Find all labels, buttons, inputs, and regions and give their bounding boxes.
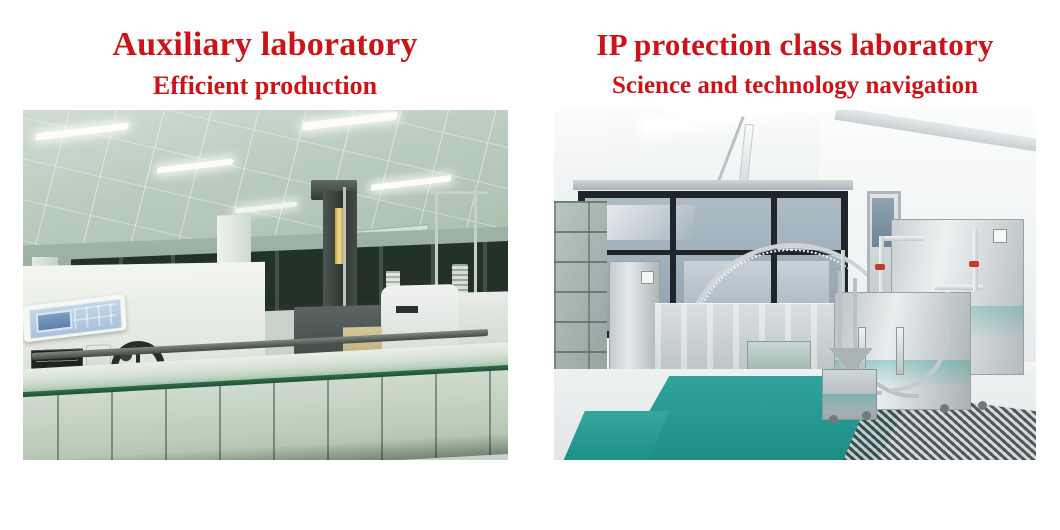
red-valve-handle-icon bbox=[875, 264, 885, 270]
column-auxiliary-laboratory: Auxiliary laboratory Efficient productio… bbox=[0, 0, 530, 530]
warning-label-icon bbox=[993, 229, 1007, 243]
castor-wheel-icon bbox=[940, 404, 949, 413]
hoist-frame-top bbox=[430, 191, 488, 194]
auxiliary-laboratory-photo bbox=[23, 110, 508, 460]
auxiliary-laboratory-subtitle: Efficient production bbox=[153, 71, 377, 101]
panel-display-screen bbox=[35, 309, 73, 333]
partition-lintel bbox=[573, 180, 853, 190]
control-panel-face bbox=[29, 298, 123, 340]
two-column-layout: Auxiliary laboratory Efficient productio… bbox=[0, 0, 1060, 530]
auxiliary-laboratory-title: Auxiliary laboratory bbox=[112, 26, 417, 64]
auxiliary-lab-scene bbox=[23, 110, 508, 460]
control-panel bbox=[23, 294, 127, 343]
column-ip-protection-class-laboratory: IP protection class laboratory Science a… bbox=[530, 0, 1060, 530]
ip-protection-subtitle: Science and technology navigation bbox=[612, 71, 978, 101]
ip-protection-title: IP protection class laboratory bbox=[596, 26, 993, 64]
castor-wheel-icon bbox=[829, 415, 838, 424]
warning-label-icon bbox=[641, 271, 654, 284]
ip-protection-class-laboratory-photo bbox=[554, 110, 1036, 460]
ip-protection-heading: IP protection class laboratory Science a… bbox=[530, 0, 1060, 101]
castor-wheel-icon bbox=[978, 401, 987, 410]
red-valve-handle-icon bbox=[969, 261, 979, 267]
laboratory-showcase-page: Auxiliary laboratory Efficient productio… bbox=[0, 0, 1060, 530]
panel-keypad bbox=[73, 303, 116, 329]
water-pipe bbox=[879, 236, 922, 241]
glass-reflection bbox=[597, 205, 693, 240]
auxiliary-laboratory-heading: Auxiliary laboratory Efficient productio… bbox=[0, 0, 530, 101]
ip-lab-scene bbox=[554, 110, 1036, 460]
tester-arm bbox=[396, 306, 418, 313]
